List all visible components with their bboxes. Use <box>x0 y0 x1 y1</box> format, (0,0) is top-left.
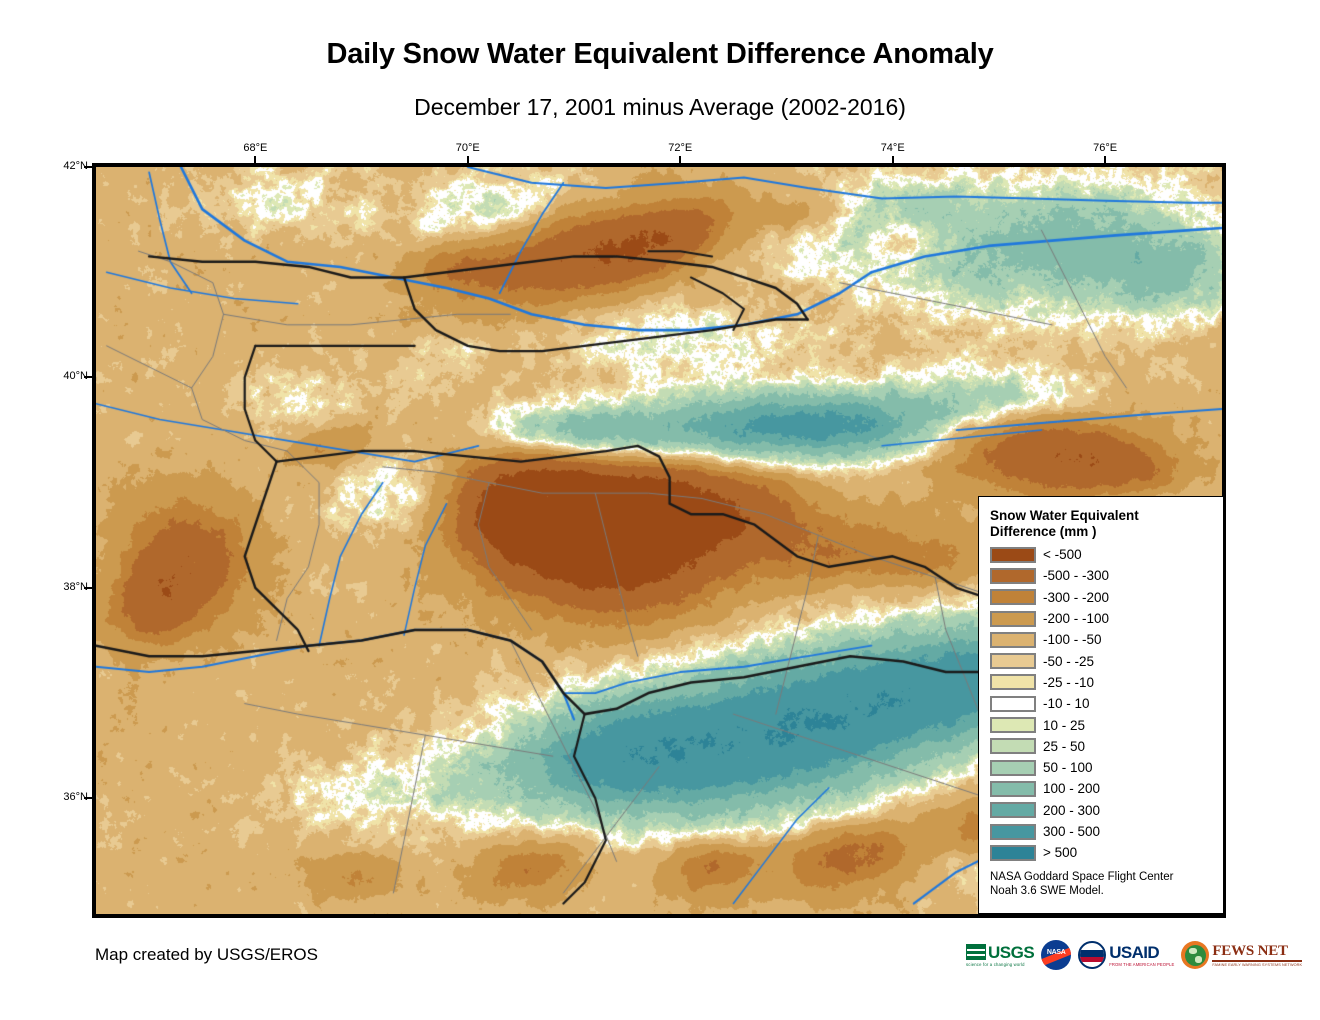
legend-label: -25 - -10 <box>1043 675 1094 690</box>
map-page: Daily Snow Water Equivalent Difference A… <box>0 0 1320 1020</box>
lon-label: 74°E <box>863 142 923 154</box>
legend-swatch <box>990 547 1036 563</box>
legend-entry: -50 - -25 <box>990 650 1213 671</box>
usaid-seal-icon <box>1078 941 1106 969</box>
legend-label: 100 - 200 <box>1043 781 1100 796</box>
legend-entry: 50 - 100 <box>990 757 1213 778</box>
usgs-logo[interactable]: USGS science for a changing world <box>966 936 1034 974</box>
page-title: Daily Snow Water Equivalent Difference A… <box>0 38 1320 71</box>
legend-label: 10 - 25 <box>1043 718 1085 733</box>
legend-label: < -500 <box>1043 547 1082 562</box>
legend-label: 50 - 100 <box>1043 760 1093 775</box>
legend-entry: -25 - -10 <box>990 672 1213 693</box>
legend-entry: -100 - -50 <box>990 629 1213 650</box>
lon-label: 76°E <box>1075 142 1135 154</box>
fews-rule <box>1212 960 1302 962</box>
legend-swatch <box>990 760 1036 776</box>
legend-swatch <box>990 781 1036 797</box>
legend-label: 300 - 500 <box>1043 824 1100 839</box>
agency-logo-row: USGS science for a changing world NASA U… <box>966 934 1302 976</box>
usgs-waves-icon <box>966 944 986 960</box>
legend-entry: 100 - 200 <box>990 778 1213 799</box>
legend-source-note: NASA Goddard Space Flight Center Noah 3.… <box>990 870 1213 898</box>
lat-label: 42°N <box>46 160 88 172</box>
legend-label: -200 - -100 <box>1043 611 1109 626</box>
legend-label: 200 - 300 <box>1043 803 1100 818</box>
lon-label: 72°E <box>650 142 710 154</box>
legend-swatch <box>990 802 1036 818</box>
legend-label: -100 - -50 <box>1043 632 1102 647</box>
legend-label: 25 - 50 <box>1043 739 1085 754</box>
legend-label: -10 - 10 <box>1043 696 1090 711</box>
legend-label: -50 - -25 <box>1043 654 1094 669</box>
legend-entry: 10 - 25 <box>990 714 1213 735</box>
legend-swatch <box>990 674 1036 690</box>
legend-title: Snow Water Equivalent Difference (mm ) <box>990 508 1213 540</box>
usaid-logo-text: USAID <box>1109 944 1174 961</box>
legend-entry: 300 - 500 <box>990 821 1213 842</box>
legend-label: > 500 <box>1043 845 1077 860</box>
page-subtitle: December 17, 2001 minus Average (2002-20… <box>0 94 1320 121</box>
legend-swatch <box>990 738 1036 754</box>
usgs-logo-text: USGS <box>988 944 1034 961</box>
legend-entry: -500 - -300 <box>990 565 1213 586</box>
legend-swatch <box>990 696 1036 712</box>
legend-swatch <box>990 653 1036 669</box>
legend-label: -500 - -300 <box>1043 568 1109 583</box>
usgs-tagline: science for a changing world <box>966 962 1025 967</box>
legend-entry: -10 - 10 <box>990 693 1213 714</box>
fews-tagline: FAMINE EARLY WARNING SYSTEMS NETWORK <box>1212 963 1302 967</box>
legend-entry: 25 - 50 <box>990 736 1213 757</box>
usaid-logo[interactable]: USAID FROM THE AMERICAN PEOPLE <box>1078 936 1174 974</box>
legend-swatch <box>990 568 1036 584</box>
map-legend: Snow Water Equivalent Difference (mm ) <… <box>978 496 1224 914</box>
lon-label: 70°E <box>438 142 498 154</box>
legend-entries: < -500-500 - -300-300 - -200-200 - -100-… <box>990 544 1213 863</box>
legend-entry: < -500 <box>990 544 1213 565</box>
usaid-tagline: FROM THE AMERICAN PEOPLE <box>1109 962 1174 967</box>
legend-swatch <box>990 611 1036 627</box>
fews-logo-text: FEWS NET <box>1212 944 1302 959</box>
legend-swatch <box>990 845 1036 861</box>
nasa-meatball-icon: NASA <box>1041 940 1071 970</box>
legend-swatch <box>990 717 1036 733</box>
lon-label: 68°E <box>225 142 285 154</box>
fews-globe-icon <box>1181 941 1209 969</box>
nasa-logo-text: NASA <box>1041 949 1071 956</box>
legend-swatch <box>990 824 1036 840</box>
lat-label: 38°N <box>46 581 88 593</box>
legend-entry: -300 - -200 <box>990 587 1213 608</box>
lat-label: 40°N <box>46 370 88 382</box>
legend-swatch <box>990 632 1036 648</box>
legend-label: -300 - -200 <box>1043 590 1109 605</box>
legend-entry: -200 - -100 <box>990 608 1213 629</box>
map-credit: Map created by USGS/EROS <box>95 945 318 965</box>
nasa-logo[interactable]: NASA <box>1041 936 1071 974</box>
legend-entry: 200 - 300 <box>990 800 1213 821</box>
legend-entry: > 500 <box>990 842 1213 863</box>
lat-label: 36°N <box>46 791 88 803</box>
fews-net-logo[interactable]: FEWS NET FAMINE EARLY WARNING SYSTEMS NE… <box>1181 936 1302 974</box>
legend-swatch <box>990 589 1036 605</box>
